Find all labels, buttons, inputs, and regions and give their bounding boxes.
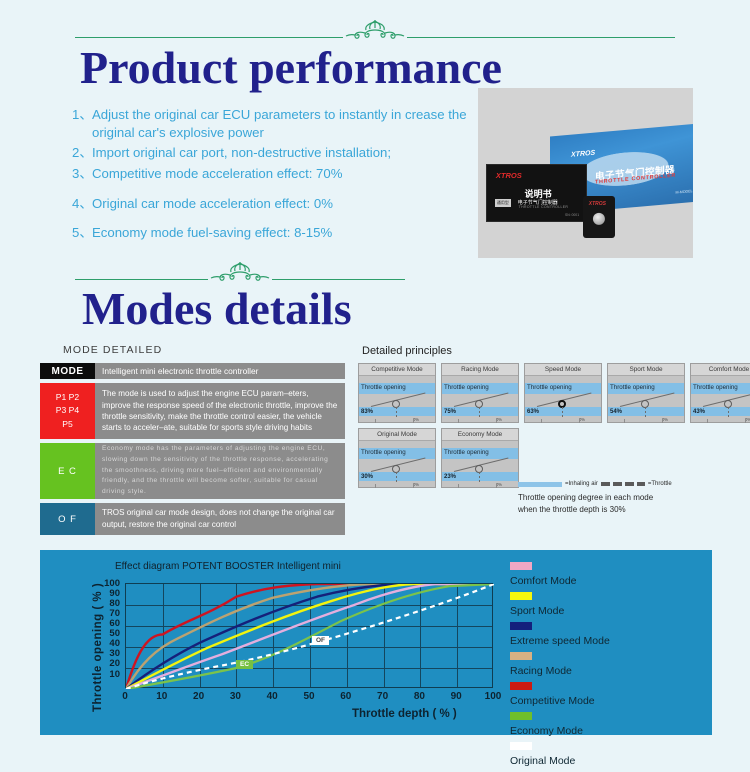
legend-swatch	[510, 742, 532, 750]
xtick-100: 100	[482, 691, 504, 702]
card-title: Racing Mode	[442, 364, 518, 376]
chart-title: Effect diagram POTENT BOOSTER Intelligen…	[115, 561, 341, 572]
xtick-20: 20	[188, 691, 210, 702]
device-dial-knob	[593, 213, 605, 225]
mode-label-text: P1 P2 P3 P4 P5	[56, 391, 79, 431]
card-gauge: Throttle opening 43% 0%	[691, 376, 750, 422]
chart-annotation-of: OF	[312, 636, 329, 645]
xtick-90: 90	[445, 691, 467, 702]
card-gauge: Throttle opening 83% 0%	[359, 376, 435, 422]
card-value: 63%	[527, 409, 539, 415]
legend-label: Extreme speed Mode	[510, 635, 610, 647]
box-model-code: M-MODEL	[676, 189, 693, 194]
mode-label-cell: P1 P2 P3 P4 P5	[40, 383, 95, 439]
principle-card-competitive[interactable]: Competitive Mode Throttle opening 83% 0%	[358, 363, 436, 423]
legend-item-competitive: Competitive Mode	[510, 682, 610, 709]
card-value: 75%	[444, 409, 456, 415]
bullet-number: 1、	[72, 106, 92, 141]
legend-swatch	[510, 562, 532, 570]
flourish-ornament	[343, 17, 407, 43]
divider-line-right	[407, 37, 675, 38]
divider-line-left	[75, 279, 208, 280]
list-item: 2、 Import original car port, non-destruc…	[72, 144, 472, 162]
legend-item-racing: Racing Mode	[510, 652, 610, 679]
legend-swatch	[510, 622, 532, 630]
card-tick	[413, 484, 414, 488]
bullet-number: 4、	[72, 195, 92, 213]
legend-label: Original Mode	[510, 755, 575, 767]
throttle-swatch	[601, 482, 645, 486]
legend-item-sport: Sport Mode	[510, 592, 610, 619]
table-row: E C Economy mode has the parameters of a…	[40, 443, 345, 499]
throttle-label: =Throttle	[648, 481, 672, 487]
mode-label-cell: MODE	[40, 363, 95, 379]
manual-serial: SN: 0001	[565, 213, 579, 217]
brand-logo-manual: XTROS	[496, 171, 522, 180]
bullet-text: Adjust the original car ECU parameters t…	[92, 106, 472, 141]
divider-line-right	[272, 279, 405, 280]
divider-line-left	[75, 37, 343, 38]
bullet-text: Import original car port, non-destructiv…	[92, 144, 472, 162]
principles-heading: Detailed principles	[362, 345, 452, 357]
bullet-number: 5、	[72, 224, 92, 242]
performance-bullet-list: 1、 Adjust the original car ECU parameter…	[72, 106, 472, 245]
card-tick	[745, 419, 746, 423]
card-tick	[375, 484, 376, 488]
card-dashed-line	[562, 407, 563, 417]
card-value: 30%	[361, 474, 373, 480]
card-throttle-label: Throttle opening	[527, 384, 572, 391]
legend-label: Sport Mode	[510, 605, 564, 617]
bullet-text: Economy mode fuel-saving effect: 8-15%	[92, 224, 472, 242]
card-tick	[375, 419, 376, 423]
list-item: 5、 Economy mode fuel-saving effect: 8-15…	[72, 224, 472, 242]
card-tick	[413, 419, 414, 423]
principle-card-sport[interactable]: Sport Mode Throttle opening 54% 0%	[607, 363, 685, 423]
card-value: 43%	[693, 409, 705, 415]
card-throttle-label: Throttle opening	[444, 384, 489, 391]
card-dashed-line	[479, 407, 480, 417]
mode-desc-text: TROS original car mode design, does not …	[102, 507, 338, 530]
legend-caption-line1: Throttle opening degree in each mode	[518, 492, 718, 504]
product-device-unit: XTROS	[583, 196, 615, 238]
ytick-20: 20	[98, 658, 120, 669]
legend-label: Comfort Mode	[510, 575, 577, 587]
chart-plot-area: OF EC	[125, 583, 493, 688]
mode-desc-text: Economy mode has the parameters of adjus…	[102, 444, 338, 497]
card-title: Original Mode	[359, 429, 435, 441]
card-title: Sport Mode	[608, 364, 684, 376]
card-tick	[496, 484, 497, 488]
inhaling-air-label: =Inhaling air	[565, 481, 598, 487]
legend-item-economy: Economy Mode	[510, 712, 610, 739]
card-gauge: Throttle opening 23% 0%	[442, 441, 518, 487]
principle-cards: Competitive Mode Throttle opening 83% 0%…	[358, 363, 750, 493]
effect-diagram-panel: Effect diagram POTENT BOOSTER Intelligen…	[40, 550, 712, 735]
product-manual-box: XTROS 说明书 电子节气门控制器 THROTTLE CONTROLLER 通…	[486, 164, 587, 222]
legend-item-original: Original Mode	[510, 742, 610, 769]
bullet-text: Competitive mode acceleration effect: 70…	[92, 165, 472, 183]
principle-card-comfort[interactable]: Comfort Mode Throttle opening 43% 0%	[690, 363, 750, 423]
card-tick	[707, 419, 708, 423]
card-value: 23%	[444, 474, 456, 480]
inhaling-air-swatch	[518, 482, 562, 487]
card-title: Comfort Mode	[691, 364, 750, 376]
xtick-60: 60	[335, 691, 357, 702]
chart-legend: Comfort Mode Sport Mode Extreme speed Mo…	[510, 562, 610, 772]
mode-desc-cell: Economy mode has the parameters of adjus…	[95, 443, 345, 499]
card-throttle-label: Throttle opening	[444, 449, 489, 456]
principles-legend: =Inhaling air =Throttle Throttle opening…	[518, 481, 718, 517]
mode-desc-cell: The mode is used to adjust the engine EC…	[95, 383, 345, 439]
list-item: 1、 Adjust the original car ECU parameter…	[72, 106, 472, 141]
chart-curves	[126, 584, 494, 689]
mode-detailed-heading: MODE DETAILED	[63, 344, 162, 356]
bullet-number: 3、	[72, 165, 92, 183]
brand-logo-device: XTROS	[589, 201, 606, 207]
xtick-80: 80	[408, 691, 430, 702]
card-dashed-line	[396, 407, 397, 417]
product-photo: XTROS 电子节气门控制器 THROTTLE CONTROLLER M-MOD…	[478, 88, 693, 258]
card-throttle-label: Throttle opening	[361, 384, 406, 391]
card-throttle-label: Throttle opening	[610, 384, 655, 391]
card-gauge: Throttle opening 75% 0%	[442, 376, 518, 422]
legend-item-extreme-speed: Extreme speed Mode	[510, 622, 610, 649]
card-title: Speed Mode	[525, 364, 601, 376]
xtick-50: 50	[298, 691, 320, 702]
legend-swatch	[510, 712, 532, 720]
list-item: 3、 Competitive mode acceleration effect:…	[72, 165, 472, 183]
manual-english-title: THROTTLE CONTROLLER	[519, 205, 569, 209]
legend-caption-line2: when the throttle depth is 30%	[518, 504, 718, 516]
card-tick	[541, 419, 542, 423]
chart-annotation-ec: EC	[236, 660, 253, 669]
chart-xlabel: Throttle depth ( % )	[352, 708, 457, 720]
flourish-ornament	[208, 259, 272, 285]
bullet-text: Original car mode acceleration effect: 0…	[92, 195, 472, 213]
card-value: 54%	[610, 409, 622, 415]
card-gauge: Throttle opening 30% 0%	[359, 441, 435, 487]
mode-desc-text: Intelligent mini electronic throttle con…	[102, 366, 258, 376]
card-title: Economy Mode	[442, 429, 518, 441]
table-row: MODE Intelligent mini electronic throttl…	[40, 363, 345, 379]
card-gauge: Throttle opening 63% 0%	[525, 376, 601, 422]
legend-swatch	[510, 682, 532, 690]
card-dashed-line	[396, 472, 397, 482]
xtick-40: 40	[261, 691, 283, 702]
list-item: 4、 Original car mode acceleration effect…	[72, 195, 472, 213]
card-tick	[624, 419, 625, 423]
ytick-10: 10	[98, 669, 120, 680]
mode-desc-cell: TROS original car mode design, does not …	[95, 503, 345, 535]
card-tick	[458, 419, 459, 423]
mode-desc-text: The mode is used to adjust the engine EC…	[102, 388, 338, 434]
legend-row: =Inhaling air =Throttle	[518, 481, 718, 487]
page-title-performance: Product performance	[80, 45, 502, 91]
mode-label-text: MODE	[52, 366, 84, 377]
legend-label: Competitive Mode	[510, 695, 595, 707]
principle-card-economy[interactable]: Economy Mode Throttle opening 23% 0%	[441, 428, 519, 488]
mode-desc-cell: Intelligent mini electronic throttle con…	[95, 363, 345, 379]
principle-card-row: Original Mode Throttle opening 30% 0% Ec…	[358, 428, 750, 488]
xtick-0: 0	[114, 691, 136, 702]
principle-card-original[interactable]: Original Mode Throttle opening 30% 0%	[358, 428, 436, 488]
xtick-10: 10	[151, 691, 173, 702]
legend-item-comfort: Comfort Mode	[510, 562, 610, 589]
card-throttle-label: Throttle opening	[361, 449, 406, 456]
principle-card-row: Competitive Mode Throttle opening 83% 0%…	[358, 363, 750, 423]
poster-root: Product performance 1、 Adjust the origin…	[0, 0, 750, 750]
mode-detail-table: MODE Intelligent mini electronic throttl…	[40, 363, 345, 539]
card-gauge: Throttle opening 54% 0%	[608, 376, 684, 422]
manual-badge: 通用型	[495, 199, 511, 207]
mode-label-cell: O F	[40, 503, 95, 535]
card-tick	[579, 419, 580, 423]
mode-label-cell: E C	[40, 443, 95, 499]
legend-swatch	[510, 592, 532, 600]
card-tick	[662, 419, 663, 423]
list-spacer	[72, 215, 472, 224]
page-title-modes: Modes details	[82, 286, 352, 332]
mode-label-text: E C	[58, 466, 77, 477]
principle-card-speed[interactable]: Speed Mode Throttle opening 63% 0%	[524, 363, 602, 423]
card-dashed-line	[645, 407, 646, 417]
legend-swatch	[510, 652, 532, 660]
table-row: P1 P2 P3 P4 P5 The mode is used to adjus…	[40, 383, 345, 439]
card-throttle-label: Throttle opening	[693, 384, 738, 391]
table-row: O F TROS original car mode design, does …	[40, 503, 345, 535]
xtick-30: 30	[224, 691, 246, 702]
card-dashed-line	[728, 407, 729, 417]
card-dashed-line	[479, 472, 480, 482]
card-tick	[496, 419, 497, 423]
legend-label: Racing Mode	[510, 665, 572, 677]
principle-card-racing[interactable]: Racing Mode Throttle opening 75% 0%	[441, 363, 519, 423]
card-tick	[458, 484, 459, 488]
mode-label-text: O F	[58, 514, 77, 525]
xtick-70: 70	[372, 691, 394, 702]
list-spacer	[72, 186, 472, 195]
bullet-number: 2、	[72, 144, 92, 162]
card-title: Competitive Mode	[359, 364, 435, 376]
legend-label: Economy Mode	[510, 725, 583, 737]
card-value: 83%	[361, 409, 373, 415]
